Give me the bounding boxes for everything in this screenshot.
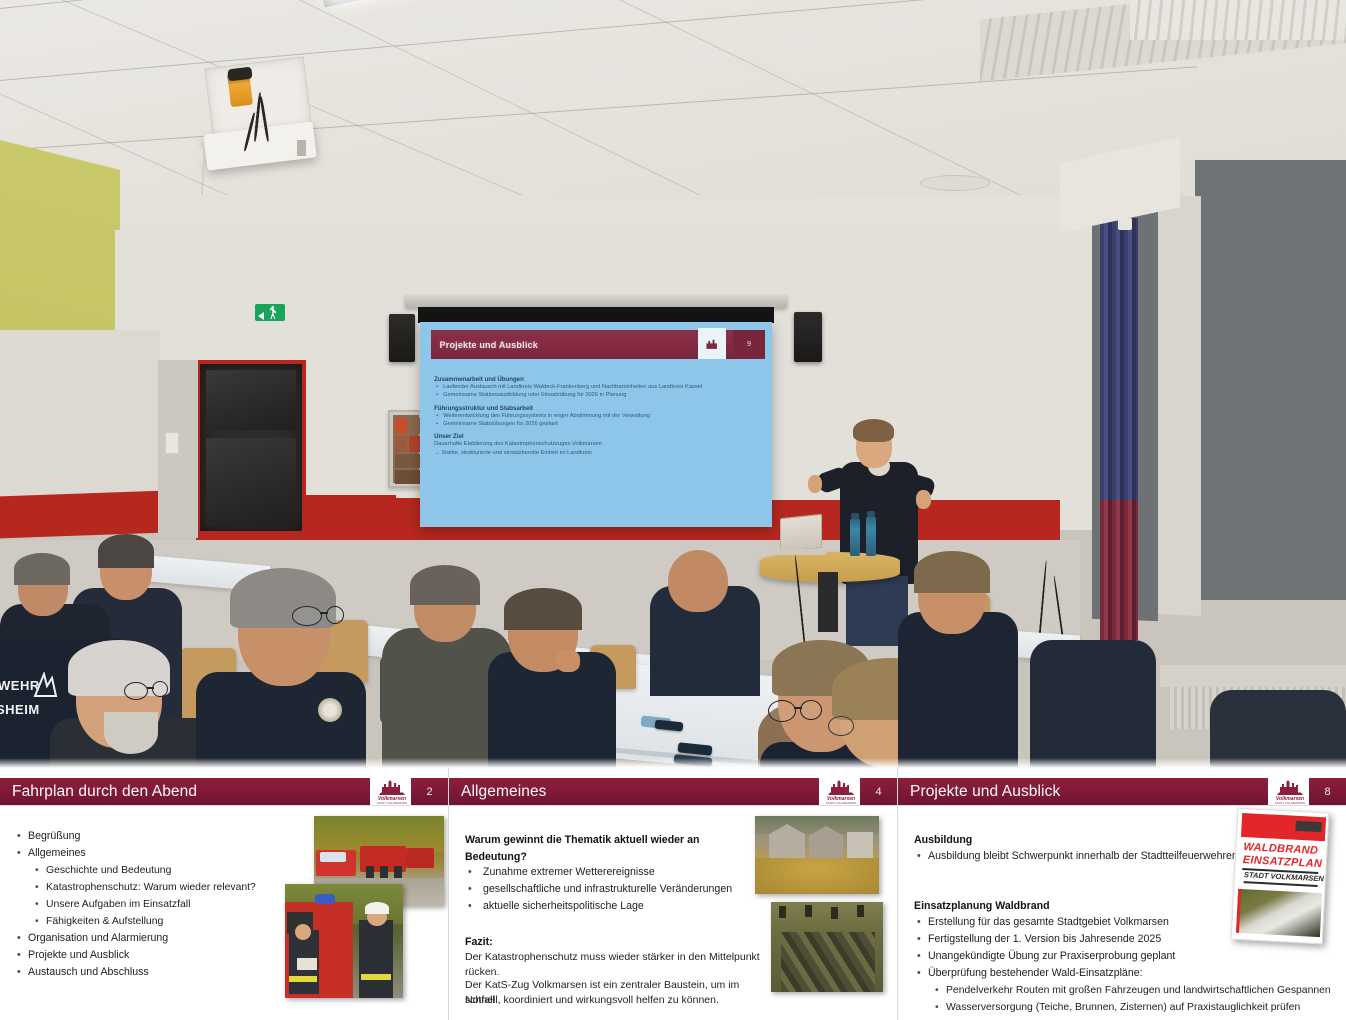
list-item: Geschichte und Bedeutung xyxy=(14,862,314,879)
ps-bullet: Gemeinsame Stabsübungen für 2026 geplant xyxy=(434,420,761,428)
audience-head xyxy=(668,550,728,612)
list-item: Ausbildung bleibt Schwerpunkt innerhalb … xyxy=(914,848,1244,865)
firefighter-head xyxy=(295,924,311,940)
picture-cell xyxy=(395,470,421,484)
audience-hair xyxy=(914,551,990,593)
audience-beard xyxy=(104,712,158,754)
eyeglasses xyxy=(326,606,344,624)
eyeglasses xyxy=(828,716,854,736)
laptop-base xyxy=(774,549,826,555)
picture-cell xyxy=(395,454,421,468)
van-window xyxy=(320,852,346,862)
eyeglasses-bridge xyxy=(794,707,802,709)
running-person-icon xyxy=(270,306,277,319)
door xyxy=(196,360,306,535)
ps-bullet: Laufender Austausch mit Landkreis Waldec… xyxy=(434,383,761,391)
photo-waldbrand-einsatzplan-brochure: WALDBRAND EINSATZPLAN STADT VOLKMARSEN xyxy=(1231,808,1330,945)
photo-soldiers-column xyxy=(771,902,883,992)
slide-title: Fahrplan durch den Abend xyxy=(0,783,197,801)
fire-truck xyxy=(406,848,434,868)
laptop-lid xyxy=(780,514,822,552)
ps-section-heading: Unser Ziel xyxy=(434,433,761,440)
picture-cell xyxy=(395,418,407,434)
slide-bullet-list: Zunahme extremer Wetterereignisse gesell… xyxy=(465,864,755,915)
slide-fahrplan[interactable]: Fahrplan durch den Abend Volkmarsen STAD… xyxy=(0,768,448,1020)
slide-projekte-ausblick[interactable]: Projekte und Ausblick Volkmarsen STADT V… xyxy=(898,768,1346,1020)
slide-question: Warum gewinnt die Thematik aktuell wiede… xyxy=(465,832,755,866)
ps-line: → Starke, strukturierte und einsatzberei… xyxy=(434,449,761,457)
presenter-hand-left xyxy=(808,475,822,493)
presenter-hair xyxy=(853,419,894,442)
slide-body: Begrüßung Allgemeines Geschichte und Bed… xyxy=(0,812,448,1020)
list-item: Wasserversorgung (Teiche, Brunnen, Ziste… xyxy=(914,999,1334,1016)
water-bottle xyxy=(866,516,876,556)
reflective-stripe xyxy=(289,976,317,982)
soldier xyxy=(805,905,812,917)
list-item: Austausch und Abschluss xyxy=(14,964,314,981)
ps-line: Dauerhafte Etablierung des Katastrophens… xyxy=(434,440,761,448)
bottle-cap xyxy=(867,511,875,517)
window-curtain-upper xyxy=(1100,218,1138,508)
brochure-logo-block xyxy=(1295,821,1321,832)
house xyxy=(847,832,873,858)
wall-picture-frame xyxy=(388,410,424,488)
audience-hair xyxy=(410,565,480,605)
ps-bullet: Gemeinsame Stationsausbildung oder Einsa… xyxy=(434,391,761,399)
shirt-text-line2: SHEIM xyxy=(0,702,40,717)
list-item: Projekte und Ausblick xyxy=(14,947,314,964)
slide-body: Warum gewinnt die Thematik aktuell wiede… xyxy=(449,812,897,1020)
uniform-patch xyxy=(318,698,342,722)
eyeglasses xyxy=(768,700,796,722)
water-bottle xyxy=(850,518,860,556)
presenter-hand-right xyxy=(916,490,931,509)
terrain xyxy=(771,902,883,932)
loudspeaker-left xyxy=(389,314,415,362)
section-heading-ausbildung: Ausbildung xyxy=(914,832,972,849)
slide-title: Projekte und Ausblick xyxy=(898,783,1060,801)
photo-flood-damage xyxy=(755,816,879,894)
castle-logo-icon xyxy=(1277,779,1303,795)
slide-bullet-list: Ausbildung bleibt Schwerpunkt innerhalb … xyxy=(914,848,1244,865)
slide-header-hairline xyxy=(898,805,1346,806)
exit-arrow-icon xyxy=(258,312,264,320)
castle-logo-icon xyxy=(379,779,405,795)
eyeglasses-bridge xyxy=(147,687,154,689)
audience-body xyxy=(1210,690,1346,768)
table-leg xyxy=(818,572,838,632)
soldier-column xyxy=(781,932,875,992)
list-item: Unangekündigte Übung zur Praxiserprobung… xyxy=(914,948,1334,965)
ceiling-corrugation xyxy=(1130,0,1346,40)
slide-number: 4 xyxy=(860,778,897,805)
audience-hand xyxy=(556,650,580,672)
list-item: aktuelle sicherheitspolitische Lage xyxy=(465,898,755,915)
document xyxy=(297,958,317,970)
flame-logo-icon xyxy=(32,672,62,698)
slide-header-bar: Fahrplan durch den Abend xyxy=(0,778,420,805)
firefighter-standing xyxy=(359,920,393,998)
ceiling-vent xyxy=(920,175,990,191)
window-reveal-dark xyxy=(1195,160,1346,600)
slide-body: Ausbildung Ausbildung bleibt Schwerpunkt… xyxy=(898,812,1346,1020)
list-item: gesellschaftliche und infrastrukturelle … xyxy=(465,881,755,898)
conclusion-label: Fazit: xyxy=(465,934,493,951)
slide-bullet-list: Begrüßung Allgemeines Geschichte und Bed… xyxy=(14,828,314,981)
section-heading-waldbrand: Einsatzplanung Waldbrand xyxy=(914,898,1050,915)
meeting-room-photo: Projekte und Ausblick 9 Zusammenarbeit u… xyxy=(0,0,1346,768)
list-item: Überprüfung bestehender Wald-Einsatzplän… xyxy=(914,965,1334,982)
eyeglasses xyxy=(800,700,822,720)
ps-section-heading: Führungsstruktur und Stabsarbeit xyxy=(434,405,761,412)
list-item: Organisation und Alarmierung xyxy=(14,930,314,947)
photo-firefighters-at-van xyxy=(285,884,403,998)
muddy-water xyxy=(755,858,879,894)
emergency-exit-icon xyxy=(255,304,285,321)
list-item: Allgemeines xyxy=(14,845,314,862)
slide-header-bar: Projekte und Ausblick xyxy=(898,778,1318,805)
slide-thumbnail-strip: Fahrplan durch den Abend Volkmarsen STAD… xyxy=(0,768,1346,1020)
eyeglasses xyxy=(152,681,168,697)
loudspeaker-right xyxy=(794,312,822,362)
audience-hair xyxy=(98,534,154,568)
brochure-forest-fire-photo xyxy=(1236,889,1322,937)
conclusion-line: schnell, koordiniert und wirkungsvoll he… xyxy=(465,993,765,1008)
projected-slide: Projekte und Ausblick 9 Zusammenarbeit u… xyxy=(420,322,772,527)
ps-bullet: Weiterentwicklung des Führungssystems in… xyxy=(434,412,761,420)
slide-number: 2 xyxy=(411,778,448,805)
list-item: Unsere Aufgaben im Einsatzfall xyxy=(14,896,314,913)
list-item: Fähigkeiten & Aufstellung xyxy=(14,913,314,930)
projected-slide-body: Zusammenarbeit und Übungen Laufender Aus… xyxy=(434,371,761,519)
bottle-cap xyxy=(851,513,859,519)
castle-logo-icon xyxy=(828,779,854,795)
door-glass-lower xyxy=(206,438,296,525)
reflective-stripe xyxy=(361,974,391,980)
blue-light xyxy=(315,894,335,904)
soldier xyxy=(857,905,864,917)
picture-cell xyxy=(395,436,407,452)
eyeglasses-bridge xyxy=(320,612,328,614)
door-glass-upper xyxy=(206,370,296,430)
soldier xyxy=(831,907,838,919)
slide-header-hairline xyxy=(449,805,897,806)
conclusion-line: Der Katastrophenschutz muss wieder stärk… xyxy=(465,950,765,980)
wall-notice xyxy=(165,432,179,454)
slide-header-bar: Allgemeines xyxy=(449,778,869,805)
window-sill xyxy=(1160,665,1346,687)
eyeglasses xyxy=(292,606,322,626)
castle-logo-icon xyxy=(704,338,720,350)
projected-slide-number: 9 xyxy=(733,330,765,359)
list-item: Zunahme extremer Wetterereignisse xyxy=(465,864,755,881)
projection-screen-top-bar xyxy=(418,307,774,323)
audience-body xyxy=(898,612,1018,768)
slide-number: 8 xyxy=(1309,778,1346,805)
ceiling-fixture xyxy=(193,148,203,164)
slide-header-hairline xyxy=(0,805,448,806)
slide-allgemeines[interactable]: Allgemeines Volkmarsen STADT VOLKMARSEN … xyxy=(449,768,897,1020)
eyeglasses xyxy=(124,682,148,700)
photo-bottom-fade xyxy=(0,758,1346,768)
audience-hair xyxy=(504,588,582,630)
slide-title: Allgemeines xyxy=(449,783,547,801)
soldier xyxy=(779,906,786,918)
list-item: Katastrophenschutz: Warum wieder relevan… xyxy=(14,879,314,896)
projection-screen: Projekte und Ausblick 9 Zusammenarbeit u… xyxy=(420,322,772,527)
ps-section-heading: Zusammenarbeit und Übungen xyxy=(434,376,761,383)
audience-body-polo xyxy=(196,672,366,768)
audience-head xyxy=(1062,600,1128,670)
list-item: Begrüßung xyxy=(14,828,314,845)
projector-vent xyxy=(297,140,306,156)
projected-slide-title: Projekte und Ausblick xyxy=(431,340,538,350)
projected-slide-logo xyxy=(698,328,726,359)
audience-hair xyxy=(14,553,70,585)
list-item: Pendelverkehr Routen mit großen Fahrzeug… xyxy=(914,982,1334,999)
helmet xyxy=(365,902,389,914)
window-pillar xyxy=(1155,194,1201,616)
